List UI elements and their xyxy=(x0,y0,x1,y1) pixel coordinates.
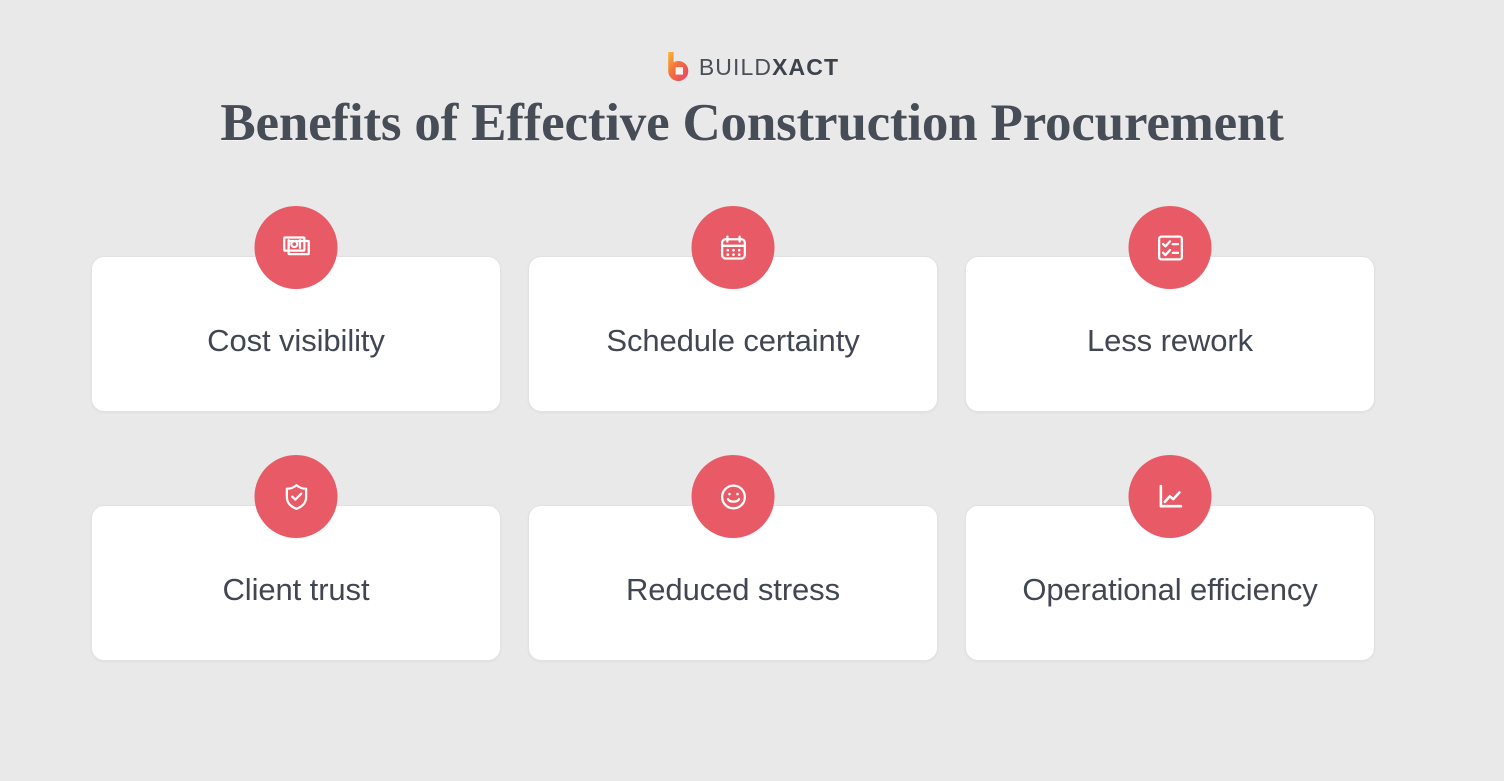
infographic-root: BUILDXACT Benefits of Effective Construc… xyxy=(0,0,1504,781)
brand-logo: BUILDXACT xyxy=(0,52,1504,82)
page-title: Benefits of Effective Construction Procu… xyxy=(0,92,1504,154)
smiley-face-icon xyxy=(692,455,775,538)
calendar-icon xyxy=(692,206,775,289)
brand-name-light: BUILD xyxy=(699,54,772,80)
benefit-card-cost-visibility[interactable]: Cost visibility xyxy=(91,206,501,362)
benefit-card-schedule-certainty[interactable]: Schedule certainty xyxy=(528,206,938,362)
benefit-label: Schedule certainty xyxy=(606,309,859,359)
benefits-grid: Cost visibility Sche xyxy=(91,206,1413,611)
benefit-label: Less rework xyxy=(1087,309,1253,359)
benefit-card-reduced-stress[interactable]: Reduced stress xyxy=(528,455,938,611)
benefit-card-less-rework[interactable]: Less rework xyxy=(965,206,1375,362)
brand-name-bold: XACT xyxy=(772,54,839,80)
benefit-label: Cost visibility xyxy=(207,309,385,359)
benefit-card-client-trust[interactable]: Client trust xyxy=(91,455,501,611)
buildxact-b-logo-icon xyxy=(665,52,690,82)
money-stack-icon xyxy=(255,206,338,289)
shield-check-icon xyxy=(255,455,338,538)
brand-wordmark: BUILDXACT xyxy=(699,56,839,79)
benefit-label: Operational efficiency xyxy=(1022,558,1317,608)
checklist-icon xyxy=(1129,206,1212,289)
benefit-label: Reduced stress xyxy=(626,558,840,608)
benefit-label: Client trust xyxy=(223,558,370,608)
line-chart-icon xyxy=(1129,455,1212,538)
benefit-card-operational-efficiency[interactable]: Operational efficiency xyxy=(965,455,1375,611)
